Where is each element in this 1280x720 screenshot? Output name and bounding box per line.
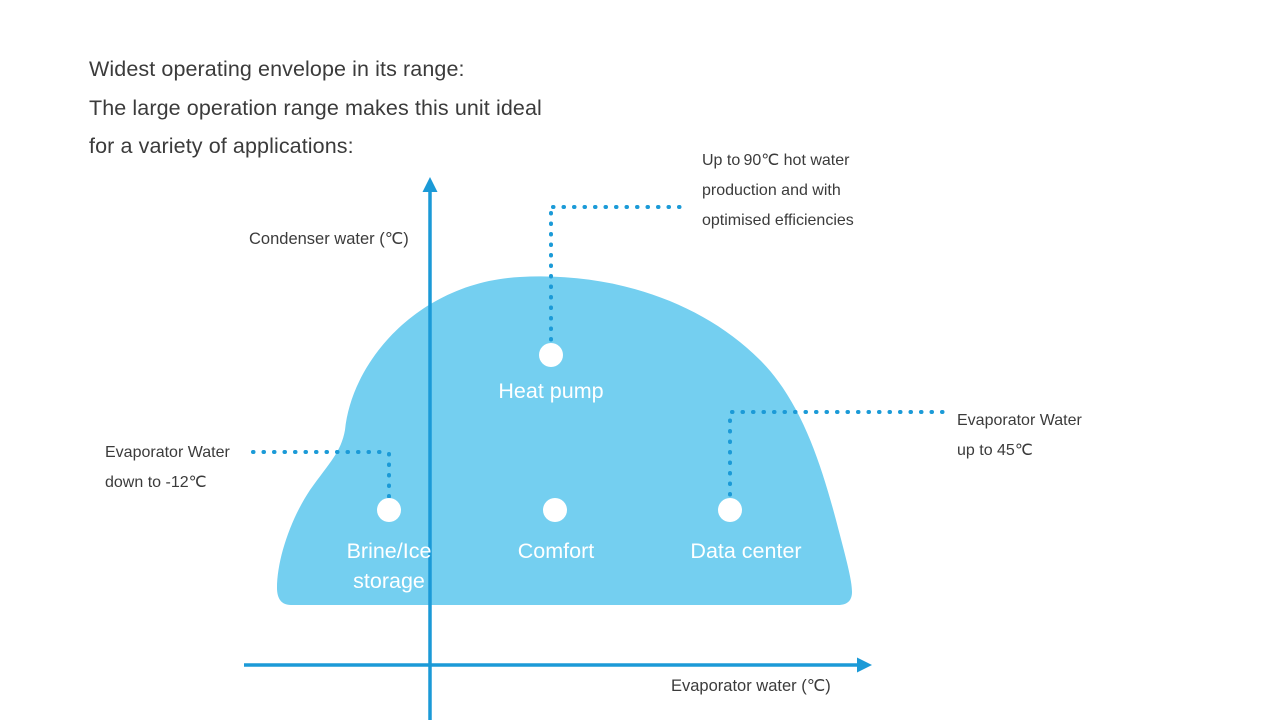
callout-hot-water-production: Up to 90℃ hot water production and with … bbox=[702, 146, 854, 236]
node-label-comfort: Comfort bbox=[456, 536, 656, 566]
node-marker-comfort[interactable] bbox=[543, 498, 567, 522]
callout-right-line-1: Evaporator Water bbox=[957, 406, 1082, 436]
node-marker-heat-pump[interactable] bbox=[539, 343, 563, 367]
callout-top-line-3: optimised efficiencies bbox=[702, 206, 854, 236]
y-axis-label: Condenser water (℃) bbox=[249, 229, 409, 249]
operating-envelope-diagram bbox=[0, 0, 1280, 720]
callout-top-line-2: production and with bbox=[702, 176, 854, 206]
callout-left-line-1: Evaporator Water bbox=[105, 438, 230, 468]
node-marker-data-center[interactable] bbox=[718, 498, 742, 522]
node-label-heat-pump: Heat pump bbox=[451, 376, 651, 406]
node-marker-brine-ice[interactable] bbox=[377, 498, 401, 522]
callout-evaporator-min: Evaporator Water down to -12℃ bbox=[105, 438, 230, 498]
callout-left-line-2: down to -12℃ bbox=[105, 468, 230, 498]
callout-evaporator-max: Evaporator Water up to 45℃ bbox=[957, 406, 1082, 466]
callout-right-line-2: up to 45℃ bbox=[957, 436, 1082, 466]
diagram-page: Widest operating envelope in its range: … bbox=[0, 0, 1280, 720]
x-axis-label: Evaporator water (℃) bbox=[671, 676, 831, 696]
x-axis bbox=[244, 658, 872, 673]
callout-top-line-1: Up to 90℃ hot water bbox=[702, 146, 854, 176]
node-label-data-center: Data center bbox=[646, 536, 846, 566]
